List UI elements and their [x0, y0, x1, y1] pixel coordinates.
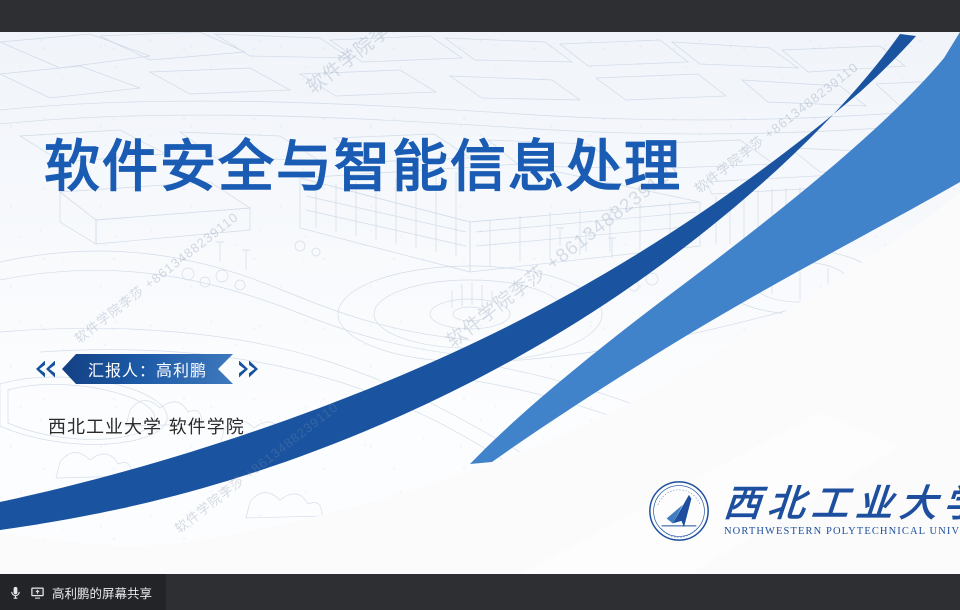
presenter-label: 汇报人：高利鹏: [62, 354, 233, 384]
university-name-en: NORTHWESTERN POLYTECHNICAL UNIVERSITY: [724, 526, 960, 537]
page-title: 软件安全与智能信息处理: [44, 135, 682, 201]
presenter-badge: 汇报人：高利鹏: [36, 352, 259, 386]
screen: 软件学院李莎 +8613488239110 软件学院李莎 +8613488239…: [0, 0, 960, 610]
university-name-cn: 西北工业大学: [722, 485, 960, 522]
taskbar: 高利鹏的屏幕共享: [0, 574, 960, 610]
top-bar: [0, 0, 960, 32]
npu-seal-icon: [648, 480, 710, 542]
microphone-icon[interactable]: [8, 585, 23, 600]
presentation-slide: 软件学院李莎 +8613488239110 软件学院李莎 +8613488239…: [0, 32, 960, 574]
right-chevrons-icon: [239, 361, 259, 378]
screen-share-label: 高利鹏的屏幕共享: [52, 583, 152, 602]
left-chevrons-icon: [36, 361, 56, 378]
affiliation-subtitle: 西北工业大学 软件学院: [48, 413, 245, 439]
screen-share-icon[interactable]: [30, 585, 45, 600]
university-logo: 西北工业大学 NORTHWESTERN POLYTECHNICAL UNIVER…: [648, 480, 960, 542]
screen-share-indicator[interactable]: 高利鹏的屏幕共享: [0, 574, 166, 610]
dark-blue-ribbon-foot: [0, 444, 264, 530]
